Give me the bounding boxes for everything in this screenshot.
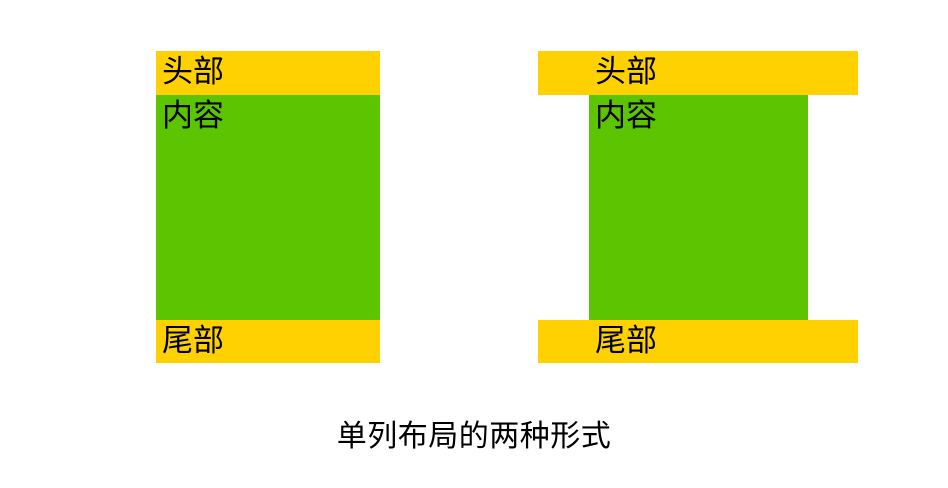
right-footer-block: 尾部 — [538, 320, 858, 363]
right-content-label: 内容 — [595, 96, 657, 136]
diagram-single-column-uniform: 头部 内容 尾部 — [156, 51, 380, 363]
figure-caption: 单列布局的两种形式 — [0, 415, 948, 459]
left-header-label: 头部 — [162, 52, 224, 92]
right-header-label: 头部 — [595, 52, 657, 92]
left-footer-block: 尾部 — [156, 320, 380, 363]
right-footer-label: 尾部 — [595, 321, 657, 361]
right-content-block: 内容 — [589, 95, 808, 320]
left-header-block: 头部 — [156, 51, 380, 95]
left-content-block: 内容 — [156, 95, 380, 320]
left-content-label: 内容 — [162, 96, 224, 136]
diagram-single-column-wide-bands: 头部 内容 尾部 — [538, 51, 858, 363]
left-footer-label: 尾部 — [162, 321, 224, 361]
diagram-canvas: 头部 内容 尾部 头部 内容 尾部 单列布局的两种形式 — [0, 0, 948, 488]
right-header-block: 头部 — [538, 51, 858, 95]
